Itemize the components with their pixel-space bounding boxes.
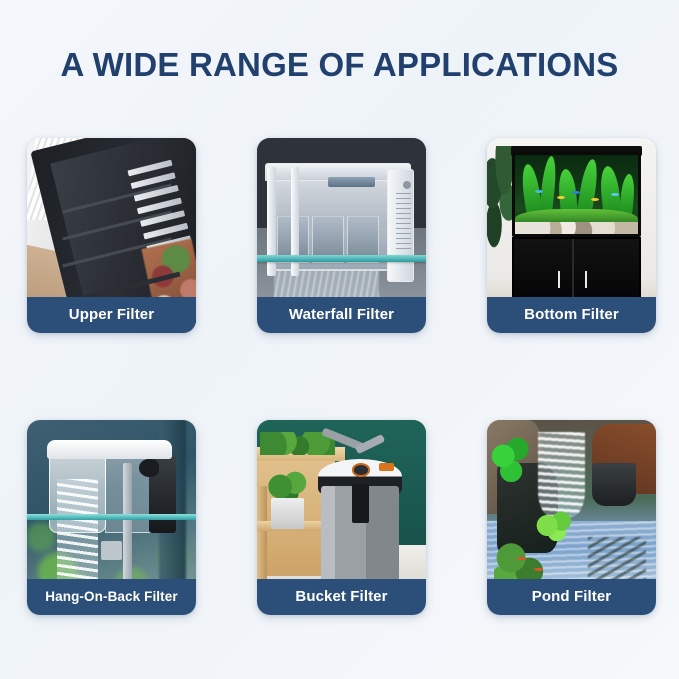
card-pond-filter[interactable]: Pond Filter <box>487 420 656 615</box>
card-label-upper-filter: Upper Filter <box>27 297 196 333</box>
applications-grid: Upper Filter <box>27 138 652 615</box>
card-hang-on-back-filter[interactable]: Hang-On-Back Filter <box>27 420 196 615</box>
applications-row-top: Upper Filter <box>27 138 652 333</box>
card-upper-filter[interactable]: Upper Filter <box>27 138 196 333</box>
card-bucket-filter[interactable]: Bucket Filter <box>257 420 426 615</box>
card-label-waterfall-filter: Waterfall Filter <box>257 297 426 333</box>
applications-row-bottom: Hang-On-Back Filter <box>27 420 652 615</box>
card-label-bucket-filter: Bucket Filter <box>257 579 426 615</box>
card-label-bottom-filter: Bottom Filter <box>487 297 656 333</box>
card-label-pond-filter: Pond Filter <box>487 579 656 615</box>
application-showcase-page: A WIDE RANGE OF APPLICATIONS <box>0 0 679 679</box>
card-waterfall-filter[interactable]: Waterfall Filter <box>257 138 426 333</box>
card-bottom-filter[interactable]: Bottom Filter <box>487 138 656 333</box>
page-title: A WIDE RANGE OF APPLICATIONS <box>0 46 679 84</box>
card-label-hang-on-back-filter: Hang-On-Back Filter <box>27 579 196 615</box>
